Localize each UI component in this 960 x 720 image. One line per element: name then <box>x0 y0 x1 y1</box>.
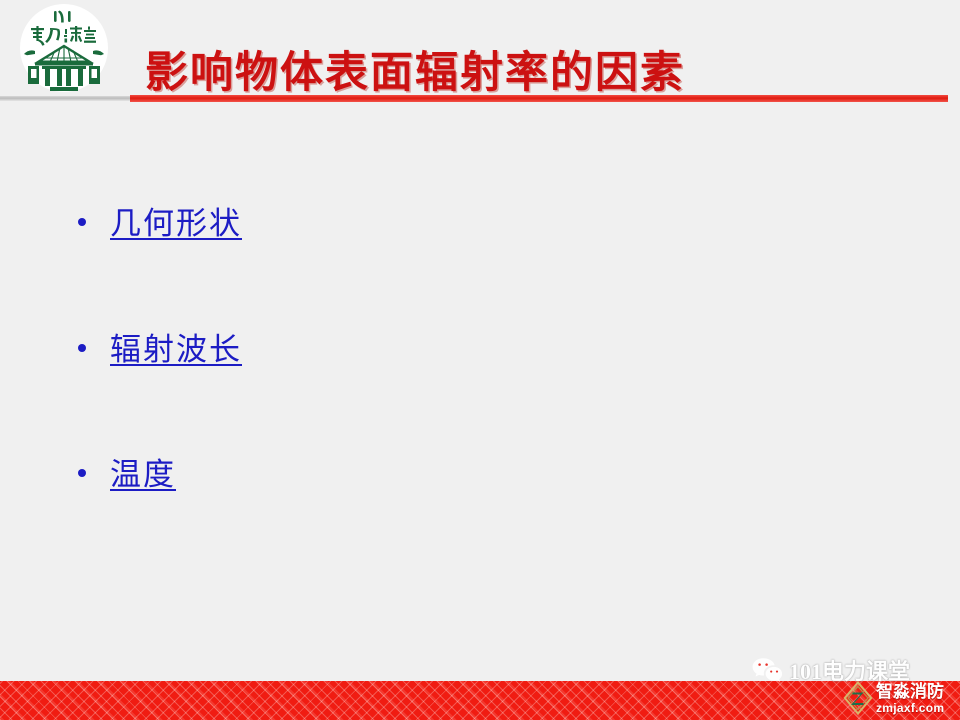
header-rule-red <box>130 95 948 102</box>
slide-content: 几何形状 辐射波长 温度 <box>0 104 960 664</box>
bullet-dot-icon <box>78 469 86 477</box>
bullet-dot-icon <box>78 344 86 352</box>
watermark-text: 智淼消防 zmjaxf.com <box>876 683 944 714</box>
list-item[interactable]: 温度 <box>78 458 176 492</box>
zmjaxf-diamond-logo-icon <box>843 681 873 715</box>
list-item[interactable]: 辐射波长 <box>78 333 242 367</box>
bullet-dot-icon <box>78 218 86 226</box>
list-item[interactable]: 几何形状 <box>78 207 242 241</box>
bullet-label-temperature[interactable]: 温度 <box>110 458 176 492</box>
header-rule-gray <box>0 96 130 101</box>
watermark-brand: 智淼消防 <box>876 683 944 700</box>
slide-header: 影响物体表面辐射率的因素 <box>0 0 960 104</box>
bullet-label-geometry[interactable]: 几何形状 <box>110 207 242 241</box>
watermark-url: zmjaxf.com <box>876 702 944 714</box>
slide-canvas: 影响物体表面辐射率的因素 几何形状 辐射波长 温度 <box>0 0 960 720</box>
school-emblem-icon <box>14 2 114 96</box>
page-title: 影响物体表面辐射率的因素 <box>145 38 685 100</box>
footer-red-band <box>0 681 960 720</box>
bullet-label-wavelength[interactable]: 辐射波长 <box>110 333 242 367</box>
site-watermark: 智淼消防 zmjaxf.com <box>843 676 960 720</box>
